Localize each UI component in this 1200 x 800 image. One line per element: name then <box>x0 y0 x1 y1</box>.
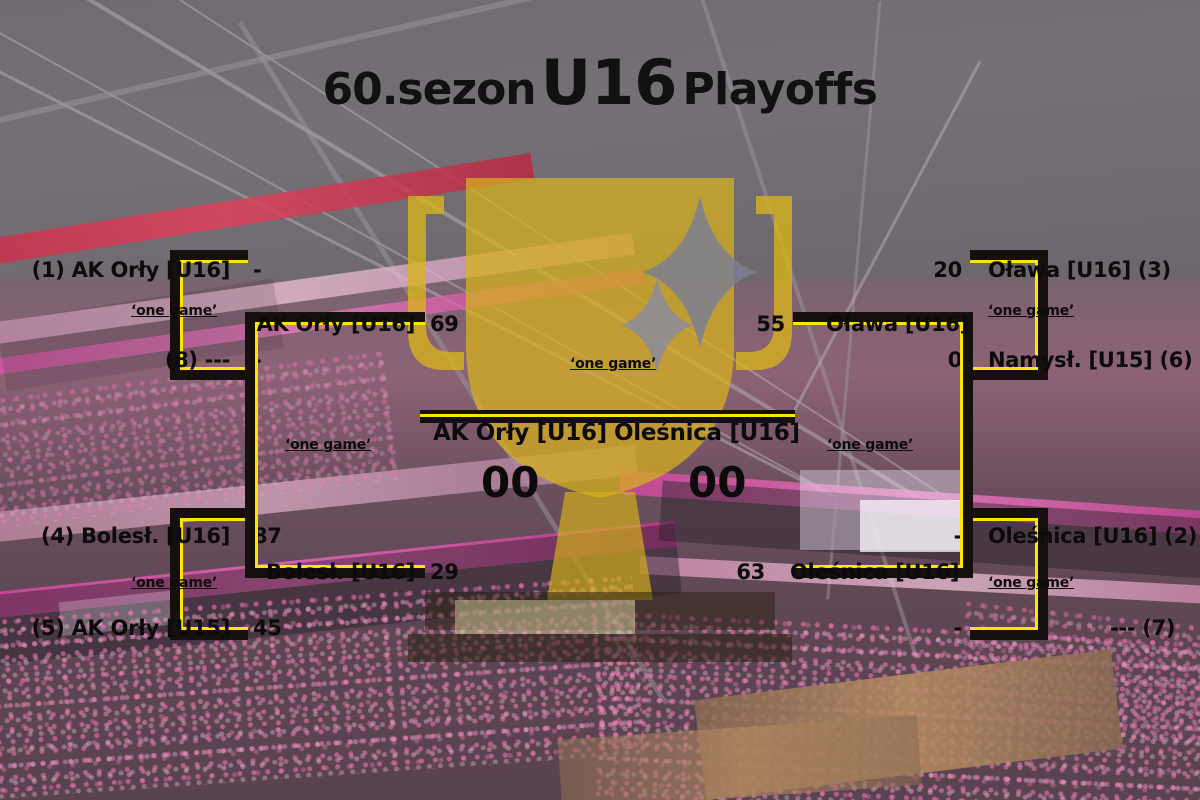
bracket-poster: 60.sezon U16 Playoffs (1) AK Orły [U16] … <box>0 0 1200 800</box>
seed-label: (5) <box>32 616 65 640</box>
final-team-left: AK Orły [U16] <box>433 420 607 446</box>
match-label-right-r1-m1: ‘one game’ <box>988 303 1074 319</box>
team-name: --- <box>1110 616 1135 640</box>
final-team-right: Oleśnica [U16] <box>614 420 800 446</box>
seed-label: (8) <box>165 348 198 372</box>
team-name: --- <box>205 348 230 372</box>
title-category: U16 <box>541 46 678 119</box>
team-right-semifinal-bottom: Oleśnica [U16] <box>790 560 959 584</box>
score-left-r1-m1-top: - <box>253 258 261 282</box>
match-label-final: ‘one game’ <box>570 356 656 372</box>
team-right-r1-m2-top: Oleśnica [U16] (2) <box>988 524 1197 548</box>
team-right-r1-m1-top: Oława [U16] (3) <box>988 258 1171 282</box>
team-name: Bolesł. [U16] <box>81 524 230 548</box>
seed-label: (4) <box>41 524 74 548</box>
team-name: Namysł. [U15] <box>988 348 1152 372</box>
team-right-semifinal-top: Oława [U16] <box>826 312 969 336</box>
team-name: Oława [U16] <box>988 258 1131 282</box>
team-left-semifinal-bottom: Bolesł. [U16] <box>175 560 415 584</box>
page-title: 60.sezon U16 Playoffs <box>0 52 1200 114</box>
final-score-right: 00 <box>688 458 746 507</box>
title-season: 60.sezon <box>322 64 535 115</box>
team-left-semifinal-top: AK Orły [U16] <box>175 312 415 336</box>
match-label-right-semifinal: ‘one game’ <box>827 437 913 453</box>
final-score-left: 00 <box>481 458 539 507</box>
seed-label: (7) <box>1142 616 1175 640</box>
team-name: AK Orły [U16] <box>72 258 230 282</box>
team-right-r1-m1-bottom: Namysł. [U15] (6) <box>988 348 1192 372</box>
score-right-semifinal-bottom: 63 <box>680 560 765 584</box>
seed-label: (3) <box>1138 258 1171 282</box>
score-right-r1-m1-top: 20 <box>880 258 962 282</box>
score-right-r1-m2-bottom: - <box>880 616 962 640</box>
title-stage: Playoffs <box>682 64 877 115</box>
seed-label: (2) <box>1164 524 1197 548</box>
seed-label: (1) <box>32 258 65 282</box>
seed-label: (6) <box>1160 348 1193 372</box>
score-right-semifinal-top: 55 <box>700 312 785 336</box>
match-label-right-r1-m2: ‘one game’ <box>988 575 1074 591</box>
team-name: AK Orły [U15] <box>72 616 230 640</box>
team-left-r1-m1-top: (1) AK Orły [U16] <box>0 258 230 282</box>
team-right-r1-m2-bottom: --- (7) <box>1110 616 1175 640</box>
team-left-r1-m1-bottom: (8) --- <box>0 348 230 372</box>
team-name: Oleśnica [U16] <box>988 524 1157 548</box>
score-left-semifinal-top: 69 <box>430 312 459 336</box>
score-left-semifinal-bottom: 29 <box>430 560 459 584</box>
arena-background-photo <box>0 0 1200 800</box>
team-left-r1-m2-bottom: (5) AK Orły [U15] <box>0 616 230 640</box>
score-left-r1-m2-bottom: 45 <box>253 616 282 640</box>
team-left-r1-m2-top: (4) Bolesł. [U16] <box>0 524 230 548</box>
match-label-left-semifinal: ‘one game’ <box>285 437 371 453</box>
